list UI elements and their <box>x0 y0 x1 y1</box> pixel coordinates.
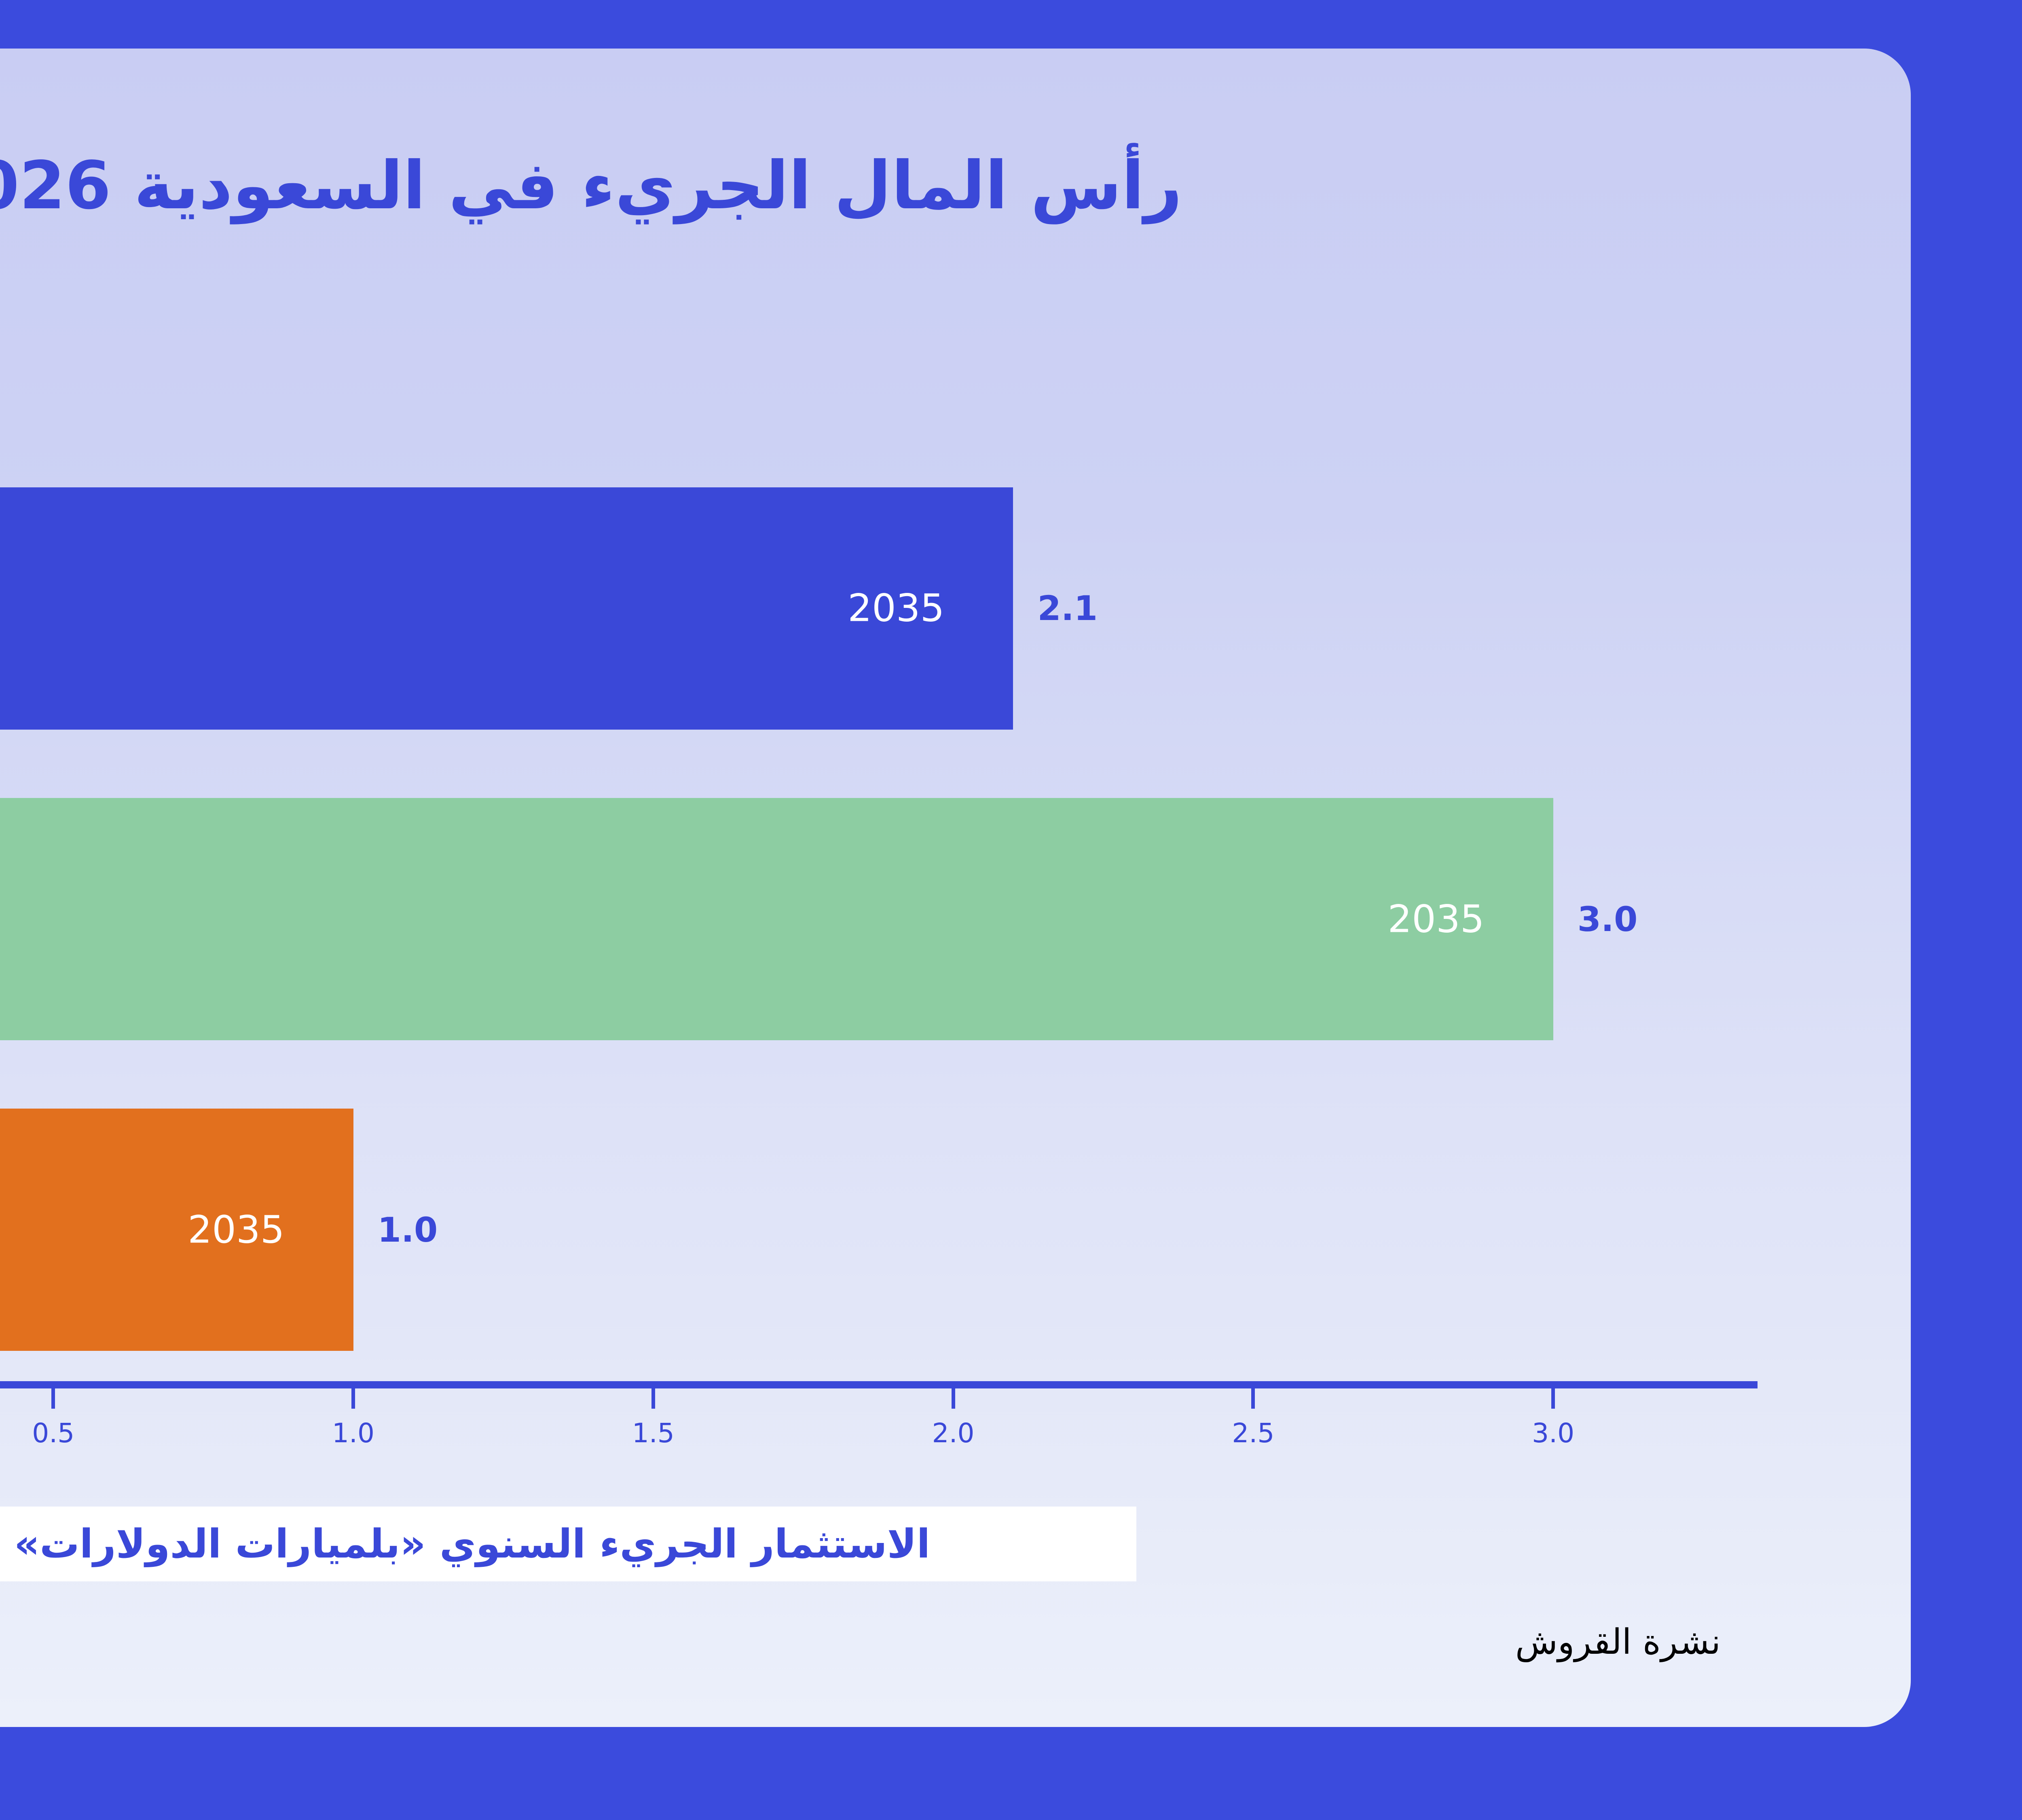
x-axis-tick <box>952 1385 955 1409</box>
bar-inner-label: 2035 <box>1387 897 1484 941</box>
bar-value-label: 3.0 <box>1578 899 1638 939</box>
x-axis-tick-label: 1.5 <box>632 1418 675 1449</box>
x-axis-tick <box>351 1385 355 1409</box>
x-axis-title-box: الاستثمار الجريء السنوي «بلميارات الدولا… <box>0 1507 1136 1581</box>
x-axis-tick-label: 0.5 <box>32 1418 74 1449</box>
x-axis-title: الاستثمار الجريء السنوي «بلميارات الدولا… <box>14 1521 930 1567</box>
x-axis-tick <box>1251 1385 1255 1409</box>
screenshot-root: رأس المال الجريء في السعودية 2026 إلى 20… <box>0 0 2022 1820</box>
chart-card: رأس المال الجريء في السعودية 2026 إلى 20… <box>0 49 1911 1727</box>
x-axis-tick-label: 2.5 <box>1232 1418 1274 1449</box>
x-axis-tick <box>1551 1385 1555 1409</box>
x-axis-tick-label: 1.0 <box>332 1418 374 1449</box>
bar-inner-label: 2035 <box>188 1208 284 1252</box>
x-axis-line <box>0 1381 1758 1388</box>
bar-value-label: 1.0 <box>378 1210 438 1250</box>
plot-area: 00.51.01.52.02.53.020351.0المتشائم20353.… <box>0 453 1757 1385</box>
x-axis-tick-label: 2.0 <box>932 1418 975 1449</box>
bar[interactable] <box>0 798 1553 1040</box>
x-axis-tick <box>651 1385 655 1409</box>
bar[interactable] <box>0 1109 353 1351</box>
x-axis-tick-label: 3.0 <box>1532 1418 1574 1449</box>
bar-inner-label: 2035 <box>848 586 944 631</box>
page-title: رأس المال الجريء في السعودية 2026 إلى 20… <box>0 148 1911 224</box>
bar-value-label: 2.1 <box>1037 588 1098 628</box>
footer-brand: نشرة القروش <box>1515 1622 1721 1662</box>
x-axis-tick <box>51 1385 55 1409</box>
